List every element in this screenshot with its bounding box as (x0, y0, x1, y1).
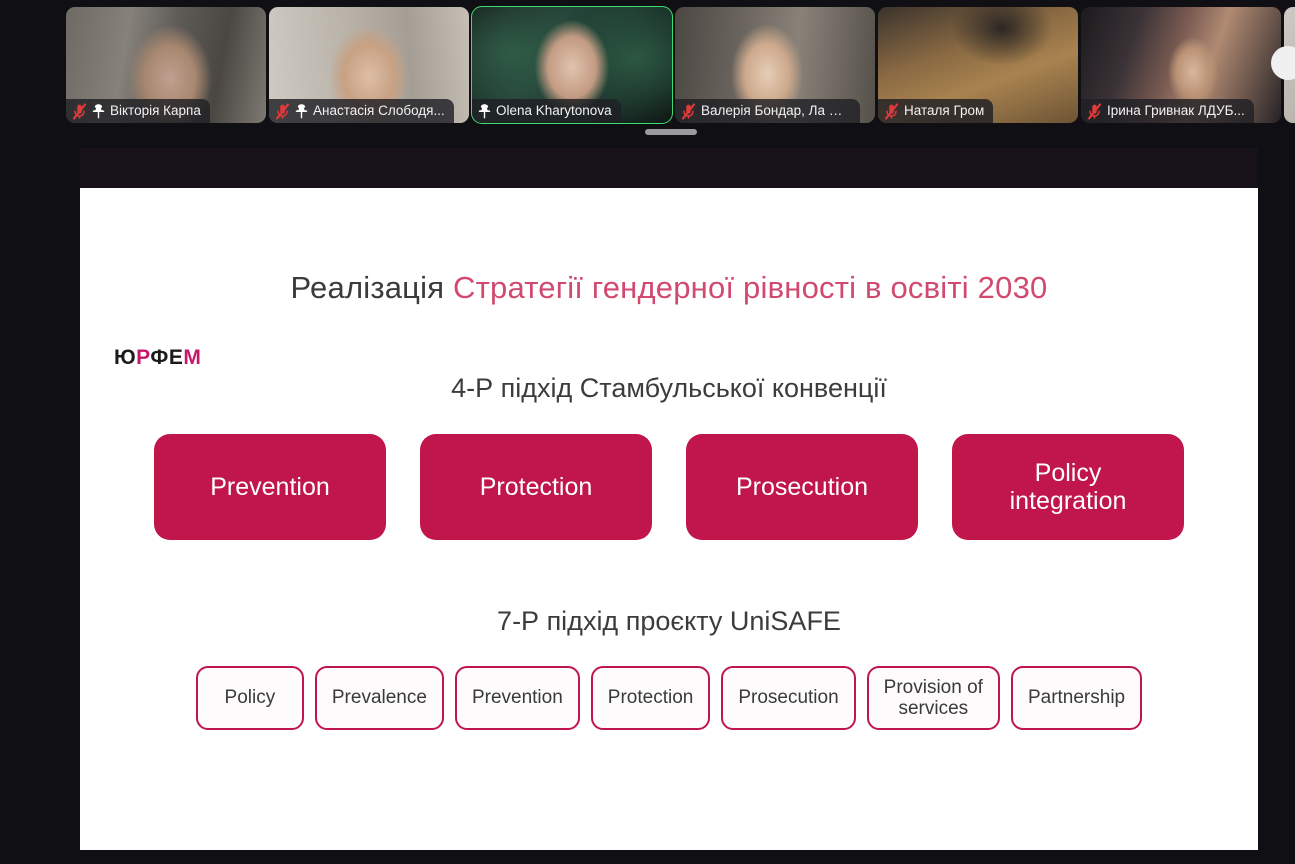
presentation-slide: ЮРФЕМ Реалізація Стратегії гендерної рів… (80, 188, 1258, 850)
istanbul-4p-box-row: PreventionProtectionProsecutionPolicyint… (80, 434, 1258, 540)
screen-share-region: ЮРФЕМ Реалізація Стратегії гендерної рів… (0, 138, 1295, 864)
istanbul-pillar-box: Policyintegration (952, 434, 1184, 540)
participant-name: Olena Kharytonova (496, 99, 612, 123)
unisafe-pillar-box: Policy (196, 666, 304, 730)
logo-accent-2: М (183, 346, 201, 369)
unisafe-pillar-box: Provision ofservices (867, 666, 1000, 730)
participant-label: Анастасія Слободя... (269, 99, 454, 123)
unisafe-pillar-box: Prosecution (721, 666, 855, 730)
yurfem-logo: ЮРФЕМ (114, 346, 201, 370)
mic-muted-icon (1087, 103, 1102, 120)
mic-muted-icon (681, 103, 696, 120)
mic-muted-icon (884, 103, 899, 120)
participant-label: Olena Kharytonova (472, 99, 621, 123)
participant-tile[interactable]: Анастасія Слободя... (269, 7, 469, 123)
share-top-band (80, 148, 1258, 192)
slide-title-accent: Стратегії гендерної рівності в освіті 20… (453, 270, 1047, 305)
zoom-meeting-window: Вікторія КарпаАнастасія Слободя...Olena … (0, 0, 1295, 864)
participant-tile-list: Вікторія КарпаАнастасія Слободя...Olena … (66, 7, 1295, 123)
participant-label: Вікторія Карпа (66, 99, 210, 123)
pin-icon (92, 103, 105, 119)
mic-muted-icon (275, 103, 290, 120)
unisafe-pillar-box: Partnership (1011, 666, 1142, 730)
participant-label: Валерія Бондар, Ла Ст... (675, 99, 860, 123)
unisafe-pillar-box: Prevalence (315, 666, 444, 730)
participant-label: Ірина Гривнак ЛДУБ... (1081, 99, 1254, 123)
slide-title: Реалізація Стратегії гендерної рівності … (80, 270, 1258, 306)
participant-label: Наталя Гром (878, 99, 993, 123)
logo-part-2: ФЕ (150, 346, 183, 369)
participant-name: Наталя Гром (904, 99, 984, 123)
logo-part-1: Ю (114, 346, 136, 369)
unisafe-7p-box-row: PolicyPrevalencePreventionProtectionPros… (80, 666, 1258, 730)
participant-filmstrip: Вікторія КарпаАнастасія Слободя...Olena … (0, 0, 1295, 130)
mic-muted-icon (72, 103, 87, 120)
participant-name: Валерія Бондар, Ла Ст... (701, 99, 851, 123)
section-heading-unisafe: 7-Р підхід проєкту UniSAFE (80, 606, 1258, 637)
participant-name: Анастасія Слободя... (313, 99, 445, 123)
participant-tile[interactable]: Валерія Бондар, Ла Ст... (675, 7, 875, 123)
slide-title-plain: Реалізація (291, 270, 453, 305)
pin-icon (478, 103, 491, 119)
participant-name: Вікторія Карпа (110, 99, 201, 123)
filmstrip-resize-handle[interactable] (645, 129, 697, 135)
istanbul-pillar-box: Prevention (154, 434, 386, 540)
istanbul-pillar-box: Prosecution (686, 434, 918, 540)
participant-tile[interactable]: Наталя Гром (878, 7, 1078, 123)
logo-accent-1: Р (136, 346, 150, 369)
participant-tile[interactable]: Olena Kharytonova (472, 7, 672, 123)
unisafe-pillar-box: Prevention (455, 666, 580, 730)
pin-icon (295, 103, 308, 119)
participant-tile[interactable]: Ірина Гривнак ЛДУБ... (1081, 7, 1281, 123)
participant-name: Ірина Гривнак ЛДУБ... (1107, 99, 1245, 123)
unisafe-pillar-box: Protection (591, 666, 711, 730)
participant-tile[interactable]: Вікторія Карпа (66, 7, 266, 123)
istanbul-pillar-box: Protection (420, 434, 652, 540)
section-heading-istanbul: 4-Р підхід Стамбульської конвенції (80, 373, 1258, 404)
